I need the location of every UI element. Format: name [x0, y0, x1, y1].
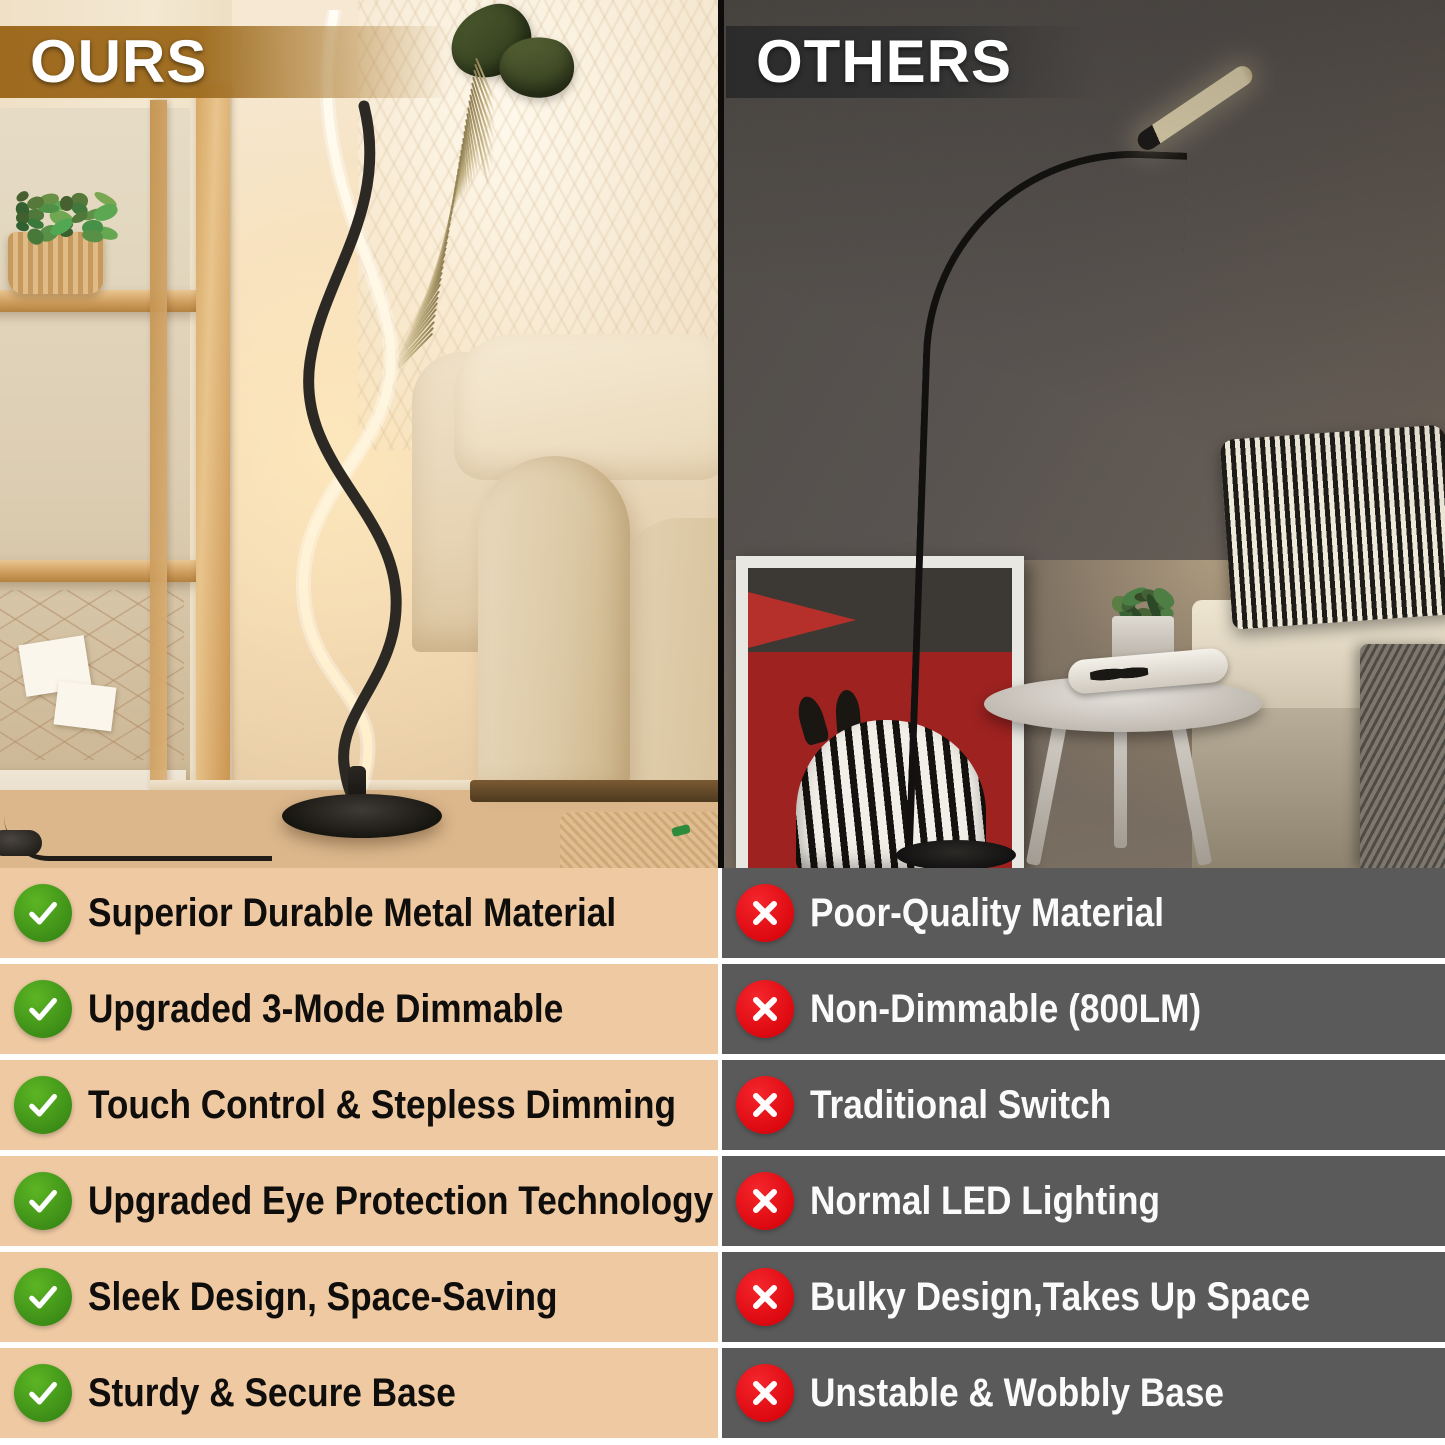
- feature-label: Upgraded Eye Protection Technology: [88, 1180, 713, 1222]
- houndstooth-pillow: [1220, 424, 1445, 629]
- check-circle-icon: [14, 1268, 72, 1326]
- sofa-arm: [620, 518, 722, 780]
- others-banner-label: OTHERS: [726, 32, 1012, 92]
- lamp-base: [282, 794, 442, 838]
- sofa-arm: [478, 456, 630, 786]
- power-cord: [4, 816, 272, 861]
- others-feature-column: Poor-Quality Material Non-Dimmable (800L…: [722, 868, 1445, 1445]
- feature-row: Traditional Switch: [722, 1060, 1445, 1150]
- photo-band: [0, 0, 1445, 868]
- x-circle-icon: [736, 1076, 794, 1134]
- feature-label: Sleek Design, Space-Saving: [88, 1276, 558, 1318]
- ours-product-photo: [0, 0, 722, 868]
- feature-row: Unstable & Wobbly Base: [722, 1348, 1445, 1438]
- feature-row: Sturdy & Secure Base: [0, 1348, 718, 1438]
- shelf-post: [150, 100, 167, 820]
- sofa-cushion: [454, 334, 722, 480]
- potted-plant: [12, 188, 108, 246]
- feature-label: Non-Dimmable (800LM): [810, 988, 1201, 1030]
- pinned-note: [54, 681, 117, 732]
- spiral-lamp-svg: [252, 10, 452, 850]
- knit-throw: [1360, 644, 1445, 868]
- others-product-photo: [722, 0, 1445, 868]
- feature-row: Sleek Design, Space-Saving: [0, 1252, 718, 1342]
- ours-feature-column: Superior Durable Metal Material Upgraded…: [0, 868, 718, 1445]
- artwork-shape: [748, 592, 856, 648]
- feature-label: Bulky Design,Takes Up Space: [810, 1276, 1310, 1318]
- gooseneck-arc-floor-lamp: [890, 62, 1250, 868]
- feature-row: Non-Dimmable (800LM): [722, 964, 1445, 1054]
- x-circle-icon: [736, 884, 794, 942]
- lamp-head: [1134, 62, 1256, 154]
- shelf-post: [196, 84, 230, 868]
- feature-comparison-table: Superior Durable Metal Material Upgraded…: [0, 868, 1445, 1445]
- feature-row: Poor-Quality Material: [722, 868, 1445, 958]
- photo-divider: [718, 0, 724, 868]
- lamp-pole: [906, 144, 1188, 860]
- check-circle-icon: [14, 1364, 72, 1422]
- feature-label: Touch Control & Stepless Dimming: [88, 1084, 676, 1126]
- feature-row: Touch Control & Stepless Dimming: [0, 1060, 718, 1150]
- x-circle-icon: [736, 1172, 794, 1230]
- feature-row: Normal LED Lighting: [722, 1156, 1445, 1246]
- x-circle-icon: [736, 1268, 794, 1326]
- spiral-led-floor-lamp: [252, 10, 452, 850]
- check-circle-icon: [14, 980, 72, 1038]
- foot-switch: [0, 830, 42, 856]
- sofa-foot: [470, 780, 722, 802]
- x-circle-icon: [736, 980, 794, 1038]
- feature-row: Bulky Design,Takes Up Space: [722, 1252, 1445, 1342]
- feature-label: Poor-Quality Material: [810, 892, 1164, 934]
- check-circle-icon: [14, 1172, 72, 1230]
- feature-label: Unstable & Wobbly Base: [810, 1372, 1224, 1414]
- feature-row: Upgraded 3-Mode Dimmable: [0, 964, 718, 1054]
- feature-label: Superior Durable Metal Material: [88, 892, 616, 934]
- feature-label: Traditional Switch: [810, 1084, 1111, 1126]
- feature-label: Normal LED Lighting: [810, 1180, 1160, 1222]
- check-circle-icon: [14, 1076, 72, 1134]
- ours-banner-label: OURS: [0, 32, 207, 92]
- check-circle-icon: [14, 884, 72, 942]
- zebra-ear: [794, 694, 830, 747]
- x-circle-icon: [736, 1364, 794, 1422]
- feature-row: Upgraded Eye Protection Technology: [0, 1156, 718, 1246]
- feature-label: Upgraded 3-Mode Dimmable: [88, 988, 563, 1030]
- ours-banner: OURS: [0, 26, 450, 98]
- lamp-base: [896, 840, 1016, 868]
- others-banner: OTHERS: [726, 26, 1098, 98]
- feature-label: Sturdy & Secure Base: [88, 1372, 456, 1414]
- feature-row: Superior Durable Metal Material: [0, 868, 718, 958]
- comparison-infographic: OURS OTHERS Superior Durable Metal Mater…: [0, 0, 1445, 1445]
